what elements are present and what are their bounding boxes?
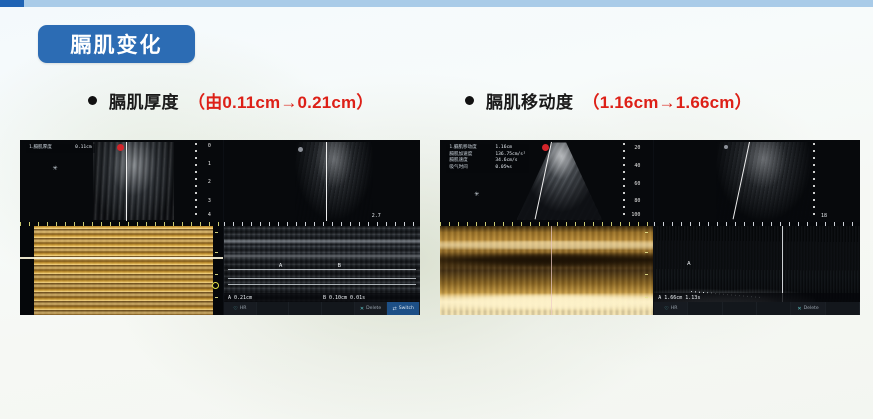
scan-corner-number: 18 [821, 213, 827, 219]
measurement-readout-bar: A 1.66cm 1.13s [654, 293, 860, 302]
measurement-row: 吸气时间 0.05%s [449, 165, 525, 172]
measurement-name: 1.膈肌厚度 [29, 145, 69, 152]
freeze-snowflake-icon: ✳ [474, 191, 479, 198]
measurement-value: 0.05%s [495, 165, 512, 172]
panel-thickness-before: 0 1 2 3 4 1.膈肌厚度 0.11cm ✳ [20, 140, 224, 315]
slide-progress-fill [0, 0, 24, 7]
toolbar-slot[interactable] [757, 302, 791, 315]
depth-label: 80 [634, 198, 640, 204]
depth-label: 40 [634, 163, 640, 169]
mmode-waveform-shadow [440, 250, 653, 270]
depth-tick-ruler [195, 143, 197, 219]
heart-icon: ♡ [233, 306, 237, 312]
switch-icon: ⇄ [392, 306, 396, 312]
toolbar-switch-button[interactable]: ⇄ Switch [387, 302, 420, 315]
readout-a: A 0.21cm [228, 295, 252, 301]
toolbar-switch-label: Switch [399, 306, 414, 311]
figure-thickness: 0 1 2 3 4 1.膈肌厚度 0.11cm ✳ [20, 140, 420, 345]
toolbar-delete-label: Delete [804, 306, 819, 311]
depth-tick-ruler [623, 143, 625, 219]
toolbar-hr-label: HR [671, 306, 678, 311]
depth-label: 20 [634, 145, 640, 151]
bmode-image [93, 142, 174, 219]
bullet-label-excursion: 膈肌移动度 [486, 88, 574, 113]
panel-excursion-before: 20 40 60 80 100 1.膈肌移动度 1.16cm 膈肌加速度 136… [440, 140, 654, 315]
toolbar-delete-button[interactable]: ✕ Delete [791, 302, 825, 315]
mmode-depth-scale [212, 226, 222, 315]
measurement-value: 1.16cm [495, 145, 512, 152]
heart-icon: ♡ [664, 306, 668, 312]
measurement-name: 吸气时间 [449, 165, 489, 172]
toolbar-slot[interactable] [257, 302, 290, 315]
depth-label: 3 [208, 198, 211, 204]
caliper-label-b: B [338, 263, 341, 269]
page-title: 膈肌变化 [71, 29, 163, 59]
slide-root: 膈肌变化 膈肌厚度 （由0.11cm→0.21cm） 膈肌移动度 （1.16cm… [0, 0, 873, 419]
x-icon: ✕ [360, 306, 364, 312]
depth-label: 100 [631, 212, 640, 218]
ultrasound-excursion: 20 40 60 80 100 1.膈肌移动度 1.16cm 膈肌加速度 136… [440, 140, 860, 315]
measurement-overlay-before: 1.膈肌厚度 0.11cm [26, 144, 95, 153]
bmode-image [716, 142, 811, 219]
toolbar-delete-button[interactable]: ✕ Delete [355, 302, 388, 315]
panel-thickness-after: 2.7 A B A 0.21cm B 0.10cm 0.01s [224, 140, 420, 315]
toolbar-slot[interactable] [826, 302, 860, 315]
bullet-dot-icon [465, 96, 474, 105]
measurement-name: 1.膈肌移动度 [449, 145, 489, 152]
measurement-readout-bar: A 0.21cm B 0.10cm 0.01s [224, 293, 420, 302]
toolbar-slot[interactable] [688, 302, 722, 315]
slide-progress-track [0, 0, 873, 7]
measurement-overlay-before: 1.膈肌移动度 1.16cm 膈肌加速度 136.75cm/s² 膈肌速度 34… [446, 144, 528, 173]
readout-a: A 1.66cm 1.13s [658, 295, 700, 301]
scanner-toolbar: ♡ HR ✕ Delete [654, 302, 860, 315]
mmode-trace-before [20, 226, 223, 315]
toolbar-slot[interactable] [289, 302, 322, 315]
bmode-window-after: 2.7 [224, 140, 420, 222]
page-title-badge: 膈肌变化 [38, 25, 195, 63]
caliper-label-a: A [279, 263, 282, 269]
bmode-window-before: 20 40 60 80 100 1.膈肌移动度 1.16cm 膈肌加速度 136… [440, 140, 653, 222]
mmode-waveform-band [440, 291, 653, 313]
bullet-value-excursion: （1.16cm→1.66cm） [583, 88, 752, 113]
active-cursor-icon[interactable] [212, 282, 219, 289]
measurement-row: 1.膈肌厚度 0.11cm [29, 145, 92, 152]
mmode-trace-before [440, 226, 653, 315]
bullet-label-thickness: 膈肌厚度 [109, 88, 179, 113]
depth-label: 0 [208, 143, 211, 149]
depth-label: 4 [208, 212, 211, 218]
bmode-window-before: 0 1 2 3 4 1.膈肌厚度 0.11cm ✳ [20, 140, 223, 222]
bullet-value-thickness: （由0.11cm→0.21cm） [188, 88, 374, 113]
figure-excursion: 20 40 60 80 100 1.膈肌移动度 1.16cm 膈肌加速度 136… [440, 140, 860, 345]
measurement-row: 1.膈肌移动度 1.16cm [449, 145, 525, 152]
depth-label: 2 [208, 179, 211, 185]
depth-label: 1 [208, 161, 211, 167]
bullet-excursion: 膈肌移动度 （1.16cm→1.66cm） [465, 88, 752, 113]
mmode-margin [20, 226, 34, 315]
toolbar-hr-label: HR [240, 306, 247, 311]
bullet-dot-icon [88, 96, 97, 105]
mmode-depth-scale [642, 226, 652, 315]
bmode-window-after: 18 [654, 140, 860, 222]
caliper-label-a: A [687, 261, 690, 267]
bmode-image [517, 142, 602, 219]
bmode-image [295, 142, 373, 219]
bullet-row: 膈肌厚度 （由0.11cm→0.21cm） 膈肌移动度 （1.16cm→1.66… [0, 88, 873, 118]
ultrasound-thickness: 0 1 2 3 4 1.膈肌厚度 0.11cm ✳ [20, 140, 420, 315]
measurement-value: 0.11cm [75, 145, 92, 152]
toolbar-hr-button[interactable]: ♡ HR [654, 302, 688, 315]
scan-corner-number: 2.7 [372, 213, 381, 219]
depth-tick-ruler [813, 143, 815, 219]
toolbar-slot[interactable] [322, 302, 355, 315]
caliper-line-icon [326, 142, 327, 221]
caliper-line-icon [551, 226, 552, 315]
toolbar-delete-label: Delete [366, 306, 381, 311]
caliper-line-icon [126, 142, 127, 221]
panel-excursion-after: 18 A A 1.66cm 1.13s ♡ HR [654, 140, 860, 315]
readout-b: B 0.10cm 0.01s [323, 295, 365, 301]
bullet-thickness: 膈肌厚度 （由0.11cm→0.21cm） [88, 88, 374, 113]
depth-label: 60 [634, 181, 640, 187]
freeze-snowflake-icon: ✳ [52, 165, 57, 172]
x-icon: ✕ [797, 306, 801, 312]
scanner-toolbar: ♡ HR ✕ Delete ⇄ Switch [224, 302, 420, 315]
toolbar-hr-button[interactable]: ♡ HR [224, 302, 257, 315]
toolbar-slot[interactable] [723, 302, 757, 315]
